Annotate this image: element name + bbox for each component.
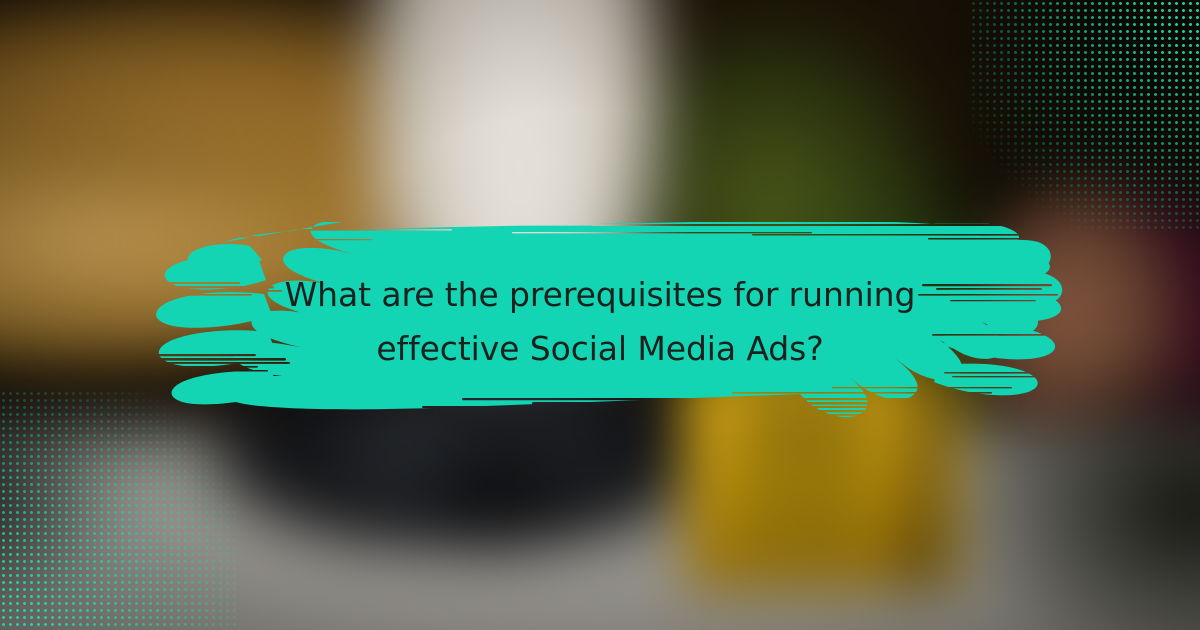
headline-line-1: What are the prerequisites for running xyxy=(150,268,1050,322)
headline-line-2: effective Social Media Ads? xyxy=(150,322,1050,376)
social-share-card: What are the prerequisites for running e… xyxy=(0,0,1200,630)
headline: What are the prerequisites for running e… xyxy=(150,268,1050,376)
